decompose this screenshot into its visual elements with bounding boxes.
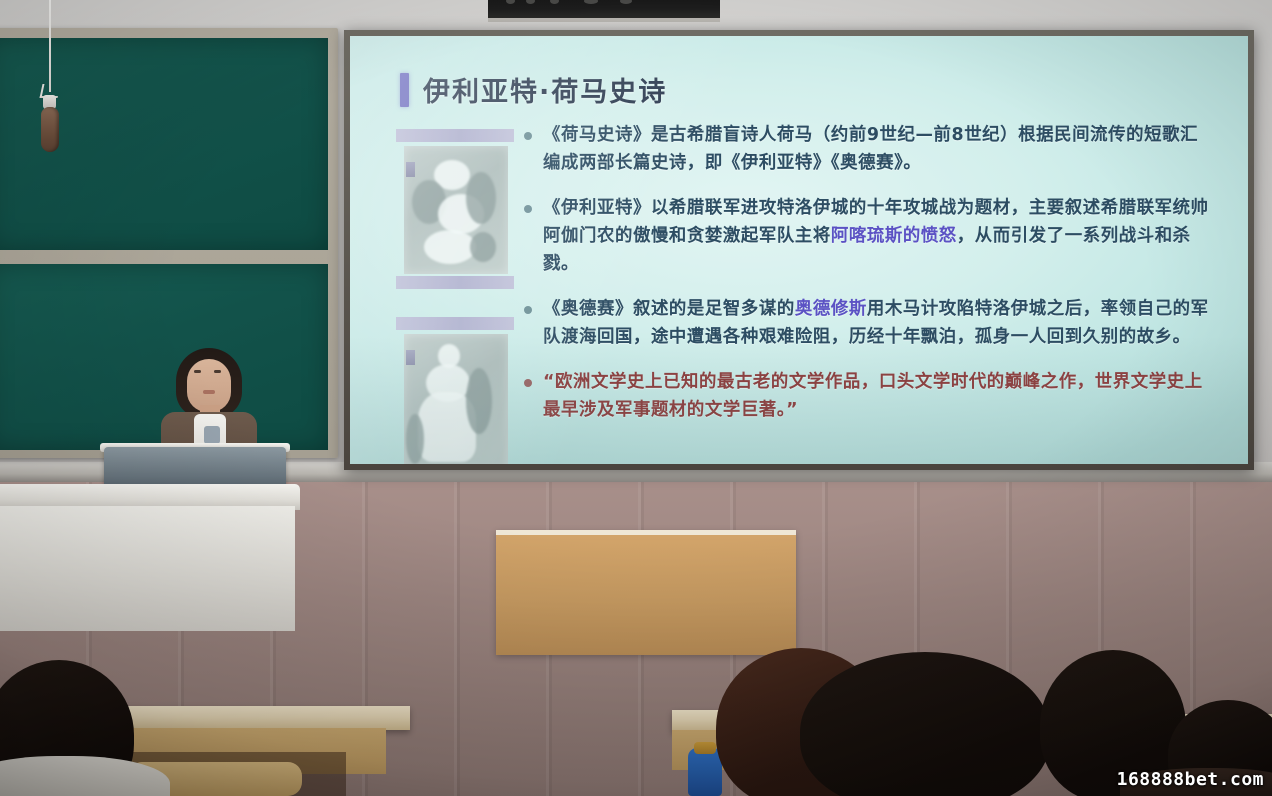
bullet-text-4-quote: “欧洲文学史上已知的最古老的文学作品，口头文学时代的巅峰之作，世界文学史上最早涉… <box>543 368 1212 425</box>
bullet-dot-icon <box>524 205 532 213</box>
classical-painting-figure-icon <box>404 334 508 464</box>
highlight-achilles-wrath: 阿喀琉斯的愤怒 <box>831 226 957 246</box>
projection-screen: 伊利亚特·荷马史诗 <box>344 30 1254 470</box>
thumbnail-caption-bar-2 <box>396 317 514 330</box>
teacher-eye-right <box>214 370 221 373</box>
podium-base <box>0 506 295 631</box>
slide-content: 伊利亚特·荷马史诗 <box>350 36 1248 464</box>
classical-painting-battle-icon <box>404 146 508 274</box>
bullet-item-2: 《伊利亚特》以希腊联军进攻特洛伊城的十年攻城战为题材，主要叙述希腊联军统帅阿伽门… <box>524 194 1212 279</box>
thumbnail-image-1 <box>396 129 514 289</box>
teacher-mouth <box>203 390 215 394</box>
bullet-text-2: 《伊利亚特》以希腊联军进攻特洛伊城的十年攻城战为题材，主要叙述希腊联军统帅阿伽门… <box>543 194 1212 279</box>
bullet-item-4: “欧洲文学史上已知的最古老的文学作品，口头文学时代的巅峰之作，世界文学史上最早涉… <box>524 368 1212 425</box>
thumbnail-marker <box>406 162 415 177</box>
page-title: 伊利亚特·荷马史诗 <box>423 70 667 109</box>
bullet-item-1: 《荷马史诗》是古希腊盲诗人荷马（约前9世纪—前8世纪）根据民间流传的短歌汇编成两… <box>524 121 1212 178</box>
water-bottle-cap <box>694 742 716 754</box>
thumbnail-image-2 <box>396 317 514 464</box>
thumbnail-caption-bar <box>396 129 514 142</box>
highlight-odysseus: 奥德修斯 <box>795 299 867 319</box>
bullet-item-3: 《奥德赛》叙述的是足智多谋的奥德修斯用木马计攻陷特洛伊城之后，率领自己的军队渡海… <box>524 295 1212 352</box>
title-accent-bar <box>400 73 409 107</box>
hanging-microphone <box>41 107 59 152</box>
slide-body: 《荷马史诗》是古希腊盲诗人荷马（约前9世纪—前8世纪）根据民间流传的短歌汇编成两… <box>380 121 1218 464</box>
projected-slide: 伊利亚特·荷马史诗 <box>350 36 1248 464</box>
podium-desktop <box>104 447 286 489</box>
ceiling-projector-unit <box>488 0 720 22</box>
slide-thumbnails <box>396 121 514 464</box>
teacher-eye-left <box>194 370 201 373</box>
slide-title-row: 伊利亚特·荷马史诗 <box>400 70 1218 109</box>
lecture-podium <box>0 440 310 630</box>
thumbnail-base-bar <box>396 276 514 289</box>
watermark-text: 168888bet.com <box>1117 769 1264 790</box>
classroom-photo-scene: 伊利亚特·荷马史诗 <box>0 0 1272 796</box>
bullet-dot-icon <box>524 306 532 314</box>
bullet-text-1: 《荷马史诗》是古希腊盲诗人荷马（约前9世纪—前8世纪）根据民间流传的短歌汇编成两… <box>543 121 1212 178</box>
bullet-dot-icon <box>524 132 532 140</box>
thumbnail-marker-2 <box>406 350 415 365</box>
slide-bullet-list: 《荷马史诗》是古希腊盲诗人荷马（约前9世纪—前8世纪）根据民间流传的短歌汇编成两… <box>524 121 1218 464</box>
blue-water-bottle <box>688 748 722 796</box>
wall-bulletin-panel <box>496 530 796 655</box>
bullet-dot-icon <box>524 379 532 387</box>
bullet-text-3: 《奥德赛》叙述的是足智多谋的奥德修斯用木马计攻陷特洛伊城之后，率领自己的军队渡海… <box>543 295 1212 352</box>
microphone-cord <box>49 0 51 92</box>
